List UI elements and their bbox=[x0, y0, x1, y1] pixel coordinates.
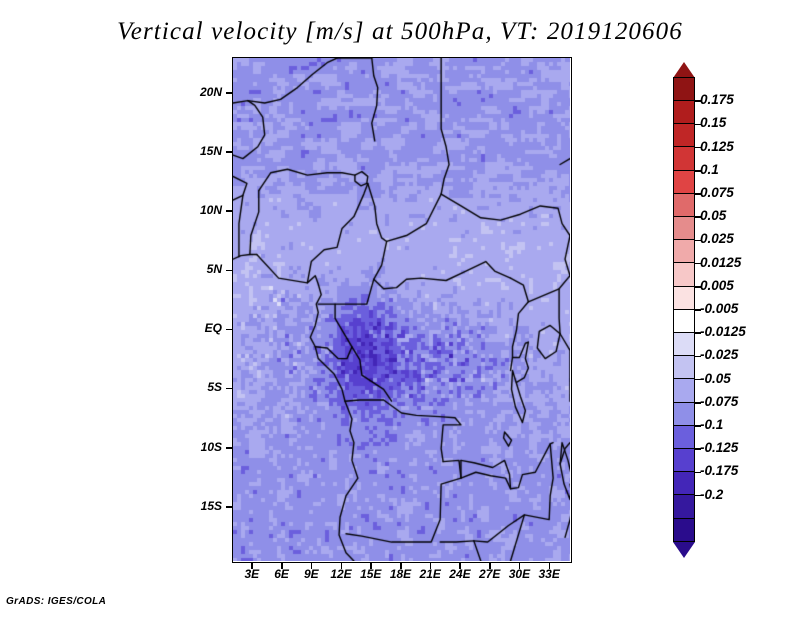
colorbar-segment bbox=[673, 471, 695, 495]
colorbar-segment bbox=[673, 309, 695, 333]
longitude-tick-mark bbox=[370, 563, 372, 569]
colorbar-segment bbox=[673, 332, 695, 356]
page-title: Vertical velocity [m/s] at 500hPa, VT: 2… bbox=[0, 18, 800, 46]
colorbar-tick-label: 0.1 bbox=[700, 162, 719, 177]
latitude-tick-mark bbox=[226, 447, 232, 449]
longitude-tick-mark bbox=[489, 563, 491, 569]
colorbar-tick-mark bbox=[695, 495, 701, 497]
colorbar-tick-mark bbox=[695, 425, 701, 427]
colorbar-tick-label: -0.075 bbox=[700, 394, 738, 409]
colorbar-segment bbox=[673, 448, 695, 472]
colorbar-tick-label: 0.15 bbox=[700, 115, 726, 130]
colorbar-tick-label: -0.2 bbox=[700, 487, 723, 502]
latitude-tick-label: 20N bbox=[170, 85, 222, 99]
longitude-tick-mark bbox=[459, 563, 461, 569]
latitude-tick-mark bbox=[226, 388, 232, 390]
colorbar-tick-label: 0.025 bbox=[700, 231, 734, 246]
latitude-tick-label: 5N bbox=[170, 262, 222, 276]
longitude-tick-label: 33E bbox=[529, 567, 569, 581]
colorbar-tick-label: -0.005 bbox=[700, 301, 738, 316]
colorbar bbox=[673, 62, 695, 558]
colorbar-tick-mark bbox=[695, 332, 701, 334]
longitude-tick-mark bbox=[311, 563, 313, 569]
colorbar-tick-mark bbox=[695, 216, 701, 218]
colorbar-segment bbox=[673, 355, 695, 379]
colorbar-segment bbox=[673, 402, 695, 426]
latitude-tick-mark bbox=[226, 329, 232, 331]
latitude-tick-label: 15S bbox=[170, 499, 222, 513]
colorbar-segment bbox=[673, 193, 695, 217]
colorbar-tick-mark bbox=[695, 448, 701, 450]
colorbar-tick-label: 0.075 bbox=[700, 185, 734, 200]
colorbar-tick-mark bbox=[695, 170, 701, 172]
colorbar-tick-label: 0.005 bbox=[700, 278, 734, 293]
colorbar-tick-label: -0.0125 bbox=[700, 324, 746, 339]
colorbar-tick-label: -0.05 bbox=[700, 371, 731, 386]
colorbar-tick-label: 0.05 bbox=[700, 208, 726, 223]
colorbar-tick-label: 0.125 bbox=[700, 139, 734, 154]
longitude-tick-mark bbox=[251, 563, 253, 569]
longitude-tick-mark bbox=[281, 563, 283, 569]
colorbar-tick-mark bbox=[695, 379, 701, 381]
longitude-tick-mark bbox=[430, 563, 432, 569]
longitude-tick-mark bbox=[400, 563, 402, 569]
colorbar-segment bbox=[673, 170, 695, 194]
latitude-tick-label: 10S bbox=[170, 440, 222, 454]
colorbar-tick-mark bbox=[695, 193, 701, 195]
colorbar-segment bbox=[673, 123, 695, 147]
longitude-tick-mark bbox=[341, 563, 343, 569]
colorbar-tick-label: 0.0125 bbox=[700, 255, 741, 270]
colorbar-tick-label: 0.175 bbox=[700, 92, 734, 107]
colorbar-segment bbox=[673, 494, 695, 518]
colorbar-tick-mark bbox=[695, 309, 701, 311]
latitude-tick-mark bbox=[226, 506, 232, 508]
colorbar-segment bbox=[673, 77, 695, 101]
country-borders-overlay bbox=[233, 58, 570, 561]
colorbar-tick-mark bbox=[695, 472, 701, 474]
longitude-tick-mark bbox=[519, 563, 521, 569]
colorbar-tick-mark bbox=[695, 147, 701, 149]
colorbar-tick-mark bbox=[695, 100, 701, 102]
colorbar-tick-mark bbox=[695, 286, 701, 288]
colorbar-tick-mark bbox=[695, 356, 701, 358]
map-plot-area bbox=[232, 57, 572, 563]
colorbar-segment bbox=[673, 146, 695, 170]
colorbar-min-arrow bbox=[673, 542, 695, 558]
grads-credit: GrADS: IGES/COLA bbox=[6, 596, 106, 607]
colorbar-segment bbox=[673, 286, 695, 310]
colorbar-tick-mark bbox=[695, 240, 701, 242]
colorbar-tick-label: -0.1 bbox=[700, 417, 723, 432]
colorbar-tick-mark bbox=[695, 402, 701, 404]
longitude-tick-mark bbox=[549, 563, 551, 569]
colorbar-segment bbox=[673, 216, 695, 240]
latitude-tick-mark bbox=[226, 92, 232, 94]
latitude-tick-mark bbox=[226, 270, 232, 272]
latitude-tick-label: 5S bbox=[170, 380, 222, 394]
colorbar-tick-label: -0.125 bbox=[700, 440, 738, 455]
colorbar-tick-label: -0.025 bbox=[700, 347, 738, 362]
latitude-tick-label: 15N bbox=[170, 144, 222, 158]
latitude-tick-mark bbox=[226, 210, 232, 212]
latitude-tick-label: EQ bbox=[170, 321, 222, 335]
colorbar-segment bbox=[673, 378, 695, 402]
colorbar-segment bbox=[673, 425, 695, 449]
colorbar-segment bbox=[673, 100, 695, 124]
colorbar-tick-label: -0.175 bbox=[700, 463, 738, 478]
colorbar-segment bbox=[673, 518, 695, 542]
latitude-tick-mark bbox=[226, 151, 232, 153]
colorbar-tick-mark bbox=[695, 263, 701, 265]
colorbar-segment bbox=[673, 239, 695, 263]
colorbar-max-arrow bbox=[673, 62, 695, 78]
colorbar-segment bbox=[673, 262, 695, 286]
colorbar-tick-mark bbox=[695, 124, 701, 126]
latitude-tick-label: 10N bbox=[170, 203, 222, 217]
